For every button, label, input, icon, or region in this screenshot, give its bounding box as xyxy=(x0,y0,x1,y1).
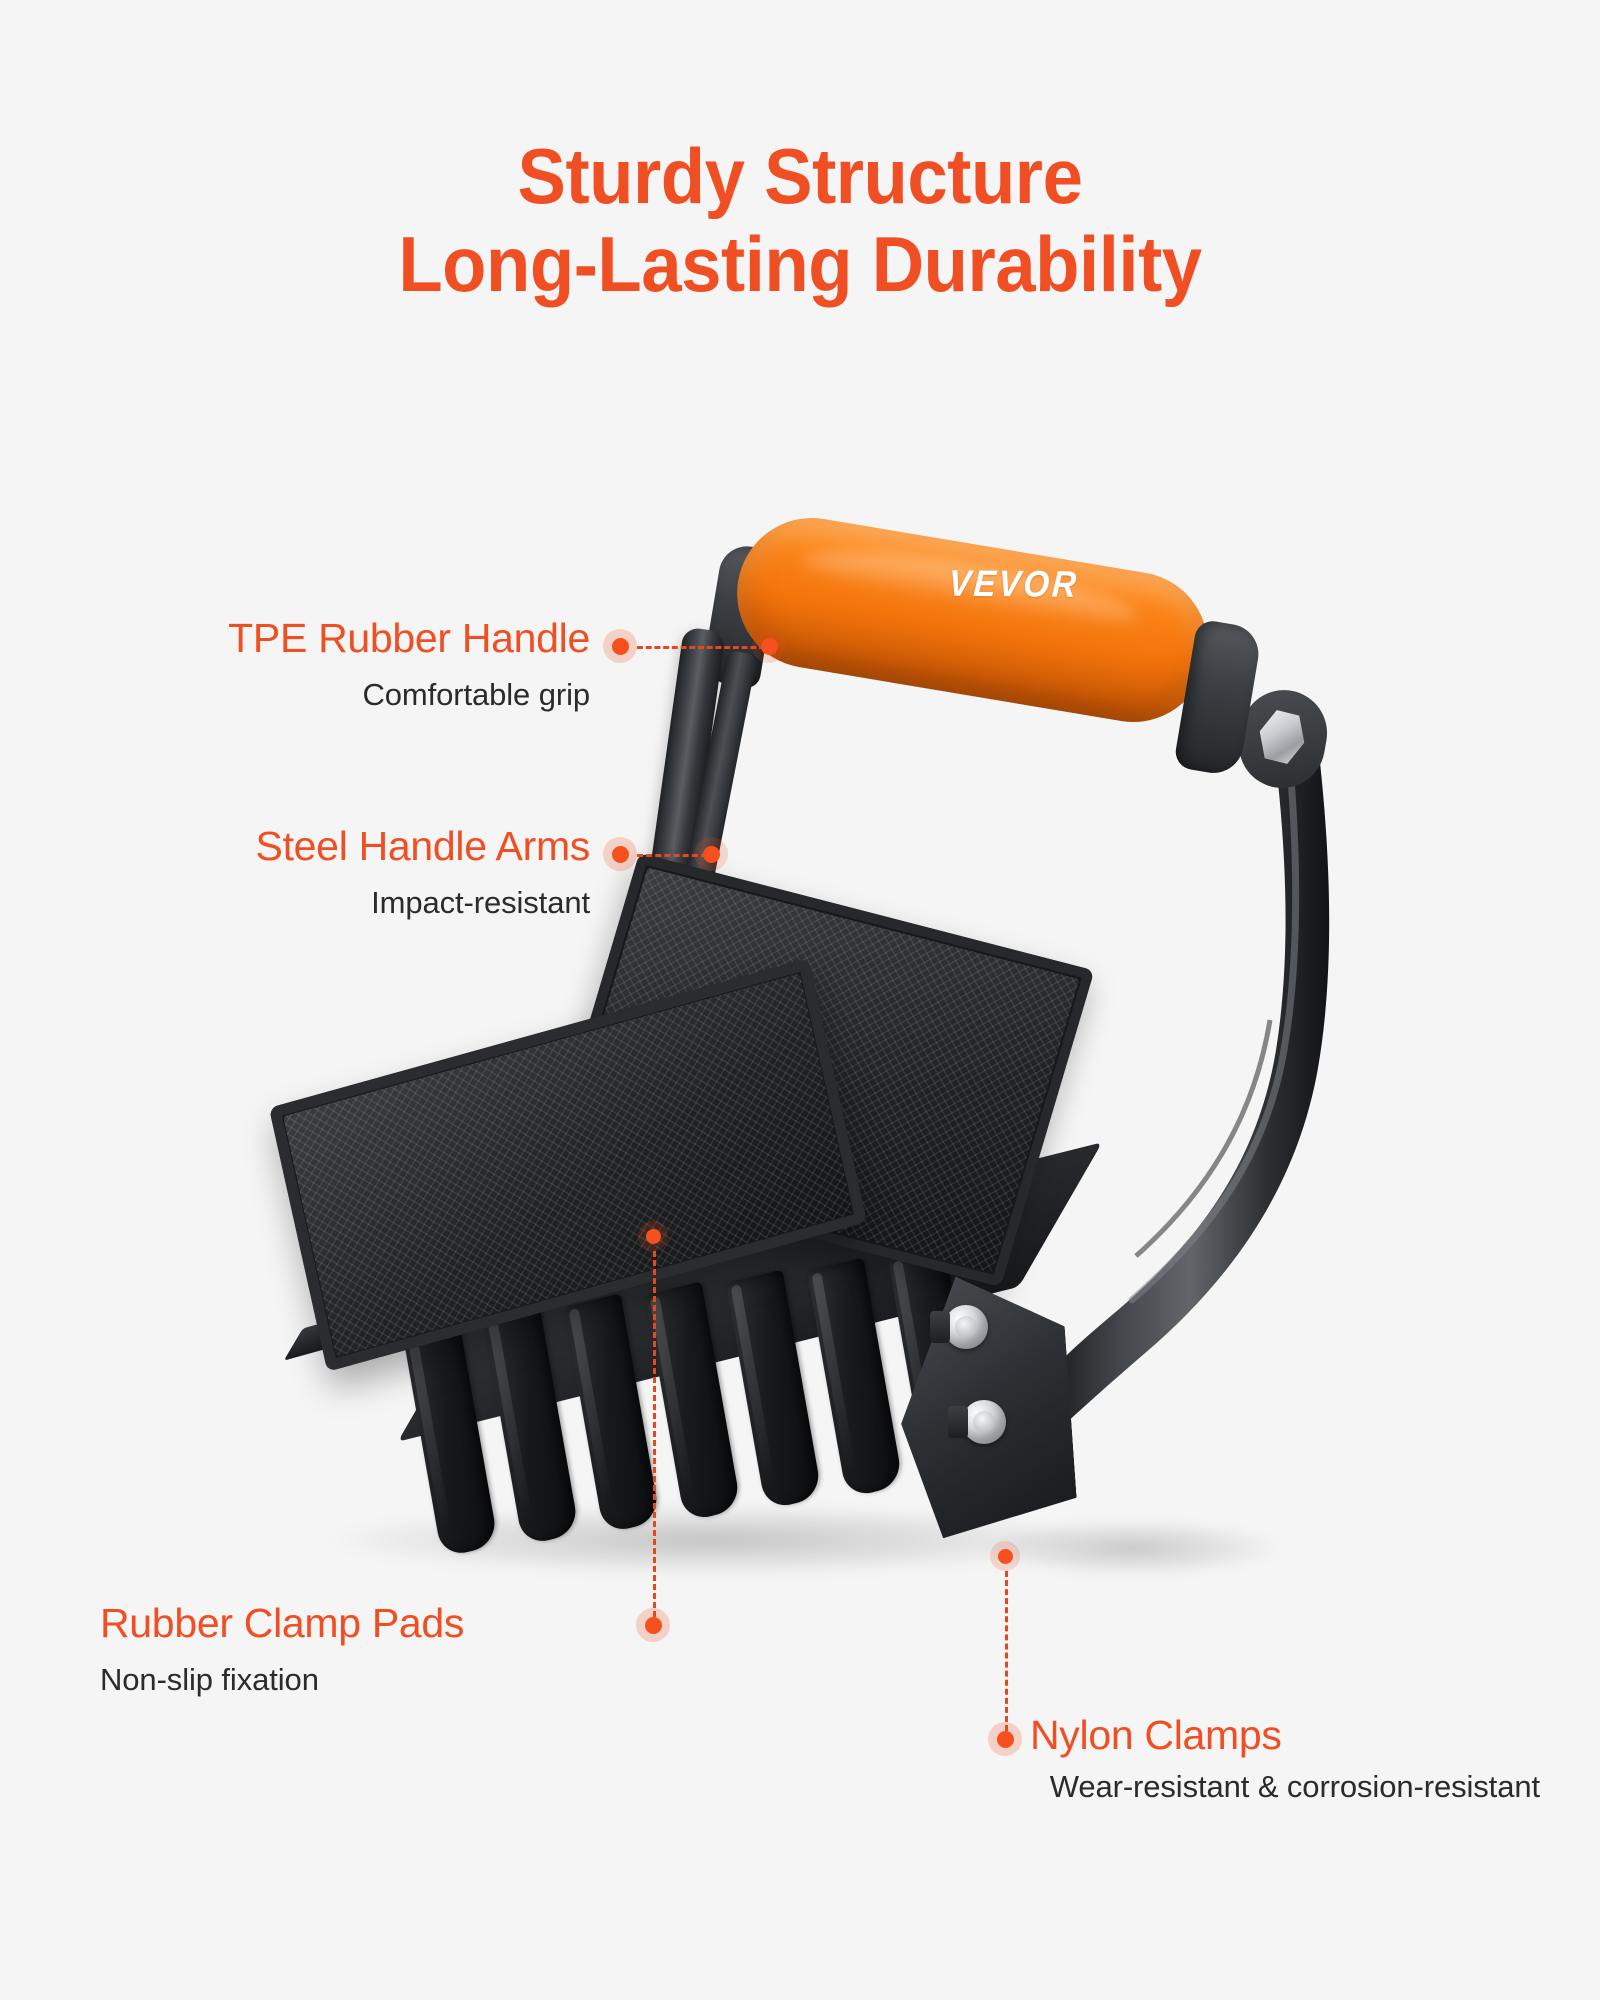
hex-bolt-handle-right xyxy=(1254,707,1311,767)
leader-line-rubber-clamp-pads xyxy=(653,1251,656,1617)
pad-texture xyxy=(283,973,853,1357)
callout-rubber-clamp-pads: Rubber Clamp Pads Non-slip fixation xyxy=(100,1600,620,1698)
clamp-fin xyxy=(726,1269,822,1510)
rubber-clamp-pad-back xyxy=(546,853,1095,1287)
callout-title: Nylon Clamps xyxy=(1030,1712,1540,1759)
callout-subtitle: Impact-resistant xyxy=(60,884,590,921)
callout-title: Rubber Clamp Pads xyxy=(100,1600,620,1647)
steel-arm-left xyxy=(642,627,725,930)
clamp-bracket-plate xyxy=(891,1269,1079,1540)
nylon-clamps xyxy=(401,1168,1079,1592)
handle-cap-right xyxy=(1173,619,1263,778)
callout-tpe-rubber-handle: TPE Rubber Handle Comfortable grip xyxy=(60,615,590,713)
pad-texture xyxy=(561,867,1080,1272)
steel-arm-right xyxy=(1040,720,1340,1480)
headline-line-1: Sturdy Structure xyxy=(518,132,1083,220)
hex-bolt-upper xyxy=(944,1305,988,1349)
infographic-stage: Sturdy Structure Long-Lasting Durability xyxy=(0,0,1600,2000)
callout-title: Steel Handle Arms xyxy=(60,823,590,870)
pad-frame xyxy=(269,958,867,1372)
steel-arm-left-inner xyxy=(673,650,758,940)
hex-bolt-lower xyxy=(962,1400,1006,1444)
callout-subtitle: Non-slip fixation xyxy=(100,1661,620,1698)
tpe-rubber-grip: VEVOR xyxy=(726,507,1219,733)
rubber-clamp-pad-front-edge xyxy=(284,1177,847,1360)
steel-arm-left-foot xyxy=(691,894,778,976)
target-dot-tpe-rubber-handle xyxy=(752,629,786,663)
clamp-fin xyxy=(483,1305,579,1546)
clamp-fin xyxy=(807,1258,903,1499)
leader-line-tpe-rubber-handle xyxy=(637,646,765,649)
pad-frame xyxy=(546,853,1095,1287)
callout-nylon-clamps: Nylon Clamps xyxy=(1030,1712,1540,1759)
callout-dot-nylon-clamps xyxy=(988,1722,1022,1756)
ground-shadow xyxy=(330,1505,1090,1575)
clamp-fin xyxy=(564,1293,660,1534)
handle-cap-left xyxy=(701,542,781,690)
callout-subtitle: Wear-resistant & corrosion-resistant xyxy=(840,1768,1540,1805)
leader-line-nylon-clamps xyxy=(1005,1571,1008,1731)
clamp-fin xyxy=(402,1317,498,1558)
brand-logo: VEVOR xyxy=(947,563,1080,606)
grip-highlight xyxy=(799,538,1141,636)
callout-dot-steel-handle-arms xyxy=(603,837,637,871)
page-title: Sturdy Structure Long-Lasting Durability xyxy=(56,132,1544,308)
callout-dot-rubber-clamp-pads xyxy=(636,1608,670,1642)
target-dot-steel-handle-arms xyxy=(694,837,728,871)
target-dot-nylon-clamps xyxy=(990,1541,1020,1571)
callout-dot-tpe-rubber-handle xyxy=(603,629,637,663)
nylon-clamp-body xyxy=(398,1142,1102,1441)
callout-title: TPE Rubber Handle xyxy=(60,615,590,662)
handle-right-collar xyxy=(1232,683,1334,794)
clamp-fin xyxy=(888,1246,984,1487)
ground-shadow-right xyxy=(980,1520,1280,1576)
callout-nylon-clamps-subtitle: Wear-resistant & corrosion-resistant xyxy=(840,1768,1540,1805)
clamp-fin xyxy=(645,1281,741,1522)
target-dot-rubber-clamp-pads xyxy=(638,1221,668,1251)
callout-subtitle: Comfortable grip xyxy=(60,676,590,713)
callout-steel-handle-arms: Steel Handle Arms Impact-resistant xyxy=(60,823,590,921)
rubber-clamp-pad-front xyxy=(269,958,867,1372)
headline-line-2: Long-Lasting Durability xyxy=(56,220,1544,308)
